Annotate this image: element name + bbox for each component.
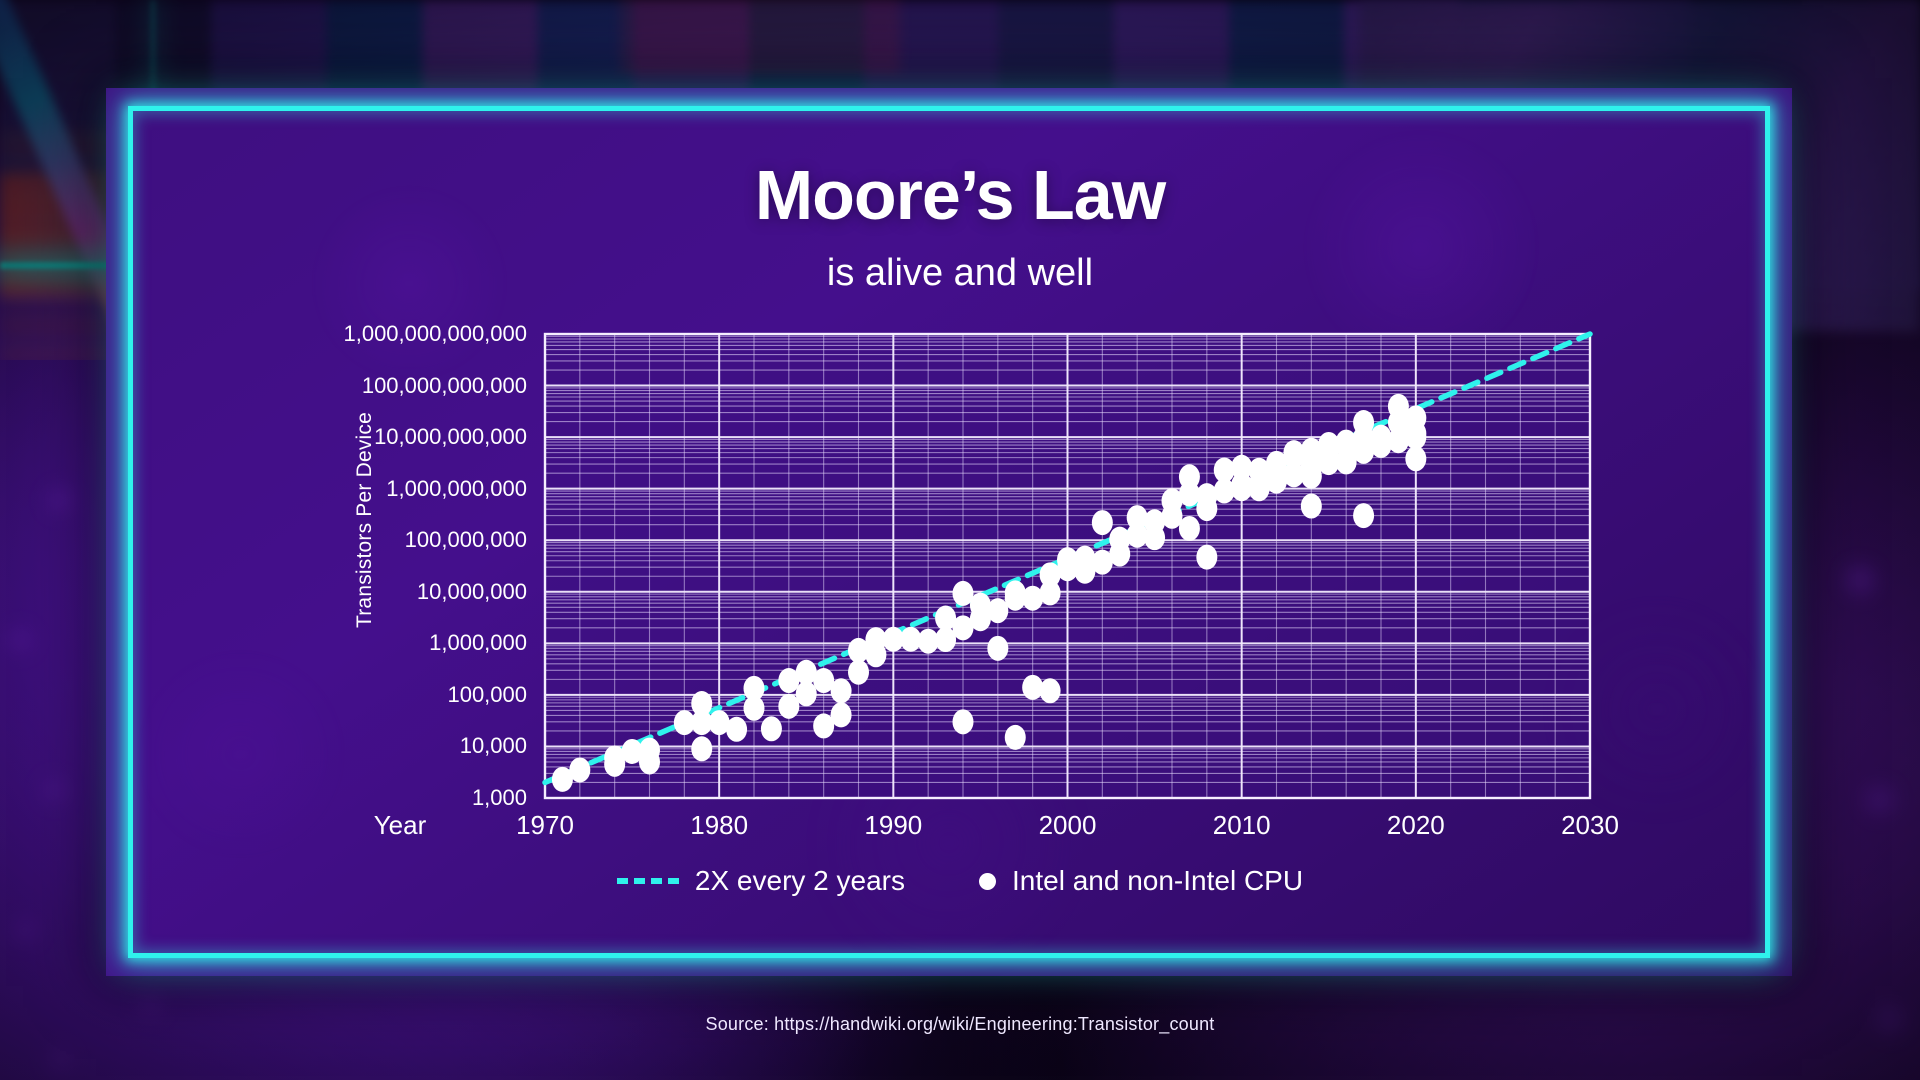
chart-legend: 2X every 2 years Intel and non-Intel CPU <box>0 865 1920 897</box>
legend-label-trend: 2X every 2 years <box>695 865 905 897</box>
legend-item-trend[interactable]: 2X every 2 years <box>617 865 905 897</box>
legend-label-cpu: Intel and non-Intel CPU <box>1012 865 1303 897</box>
page-subtitle: is alive and well <box>0 252 1920 295</box>
dot-icon <box>979 873 996 890</box>
page-title: Moore’s Law <box>0 155 1920 235</box>
legend-item-cpu[interactable]: Intel and non-Intel CPU <box>979 865 1303 897</box>
dashed-line-icon <box>617 878 679 884</box>
source-caption: Source: https://handwiki.org/wiki/Engine… <box>0 1014 1920 1035</box>
